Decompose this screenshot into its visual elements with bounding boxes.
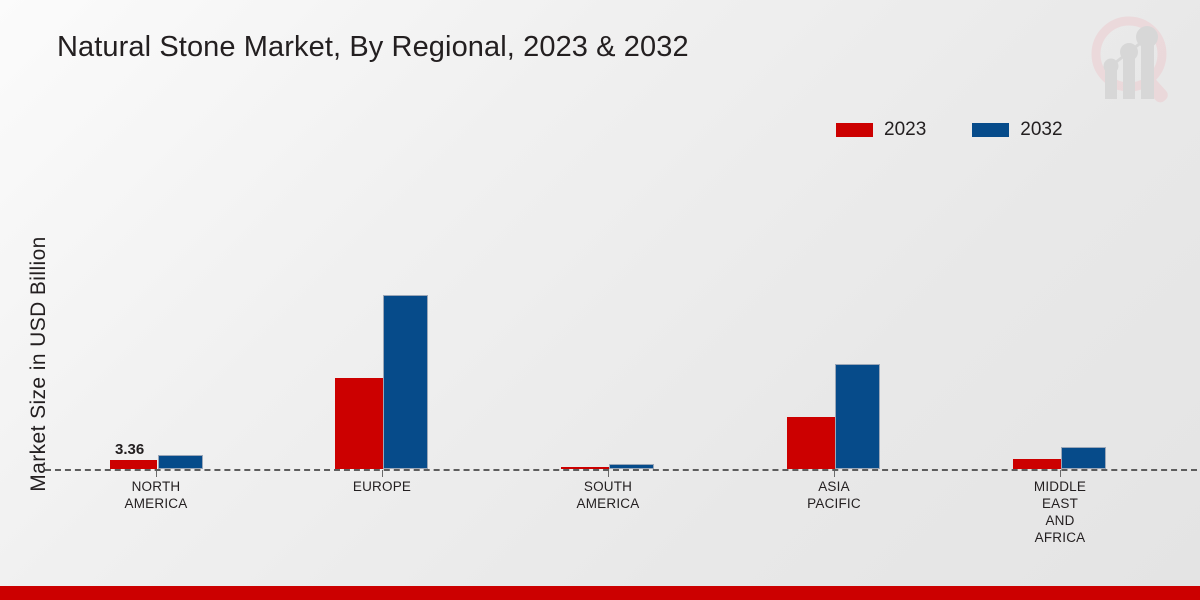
chart-page: Natural Stone Market, By Regional, 2023 …	[0, 0, 1200, 600]
x-axis-label-middle-east-and-africa: MIDDLE EAST AND AFRICA	[1000, 478, 1120, 546]
legend-label-2032: 2032	[1020, 120, 1062, 139]
chart-legend: 2023 2032	[836, 120, 1063, 139]
bar-2023-europe[interactable]	[335, 378, 383, 469]
bar-2023-north-america[interactable]	[110, 460, 157, 469]
x-axis-tick-asia-pacific	[834, 470, 835, 477]
bar-2032-asia-pacific[interactable]	[835, 364, 880, 469]
y-axis-title: Market Size in USD Billion	[27, 129, 51, 599]
x-axis-label-europe: EUROPE	[322, 478, 442, 495]
x-axis-tick-north-america	[156, 470, 157, 477]
legend-item-2023[interactable]: 2023	[836, 120, 926, 139]
x-axis-tick-middle-east-and-africa	[1060, 470, 1061, 477]
x-axis-tick-south-america	[608, 470, 609, 477]
bottom-accent-strip	[0, 586, 1200, 600]
x-axis-baseline	[45, 469, 1197, 471]
bar-2032-europe[interactable]	[383, 295, 428, 469]
bar-2032-north-america[interactable]	[158, 455, 203, 469]
x-axis-label-asia-pacific: ASIA PACIFIC	[774, 478, 894, 512]
legend-swatch-2023	[836, 123, 873, 137]
x-axis-tick-europe	[382, 470, 383, 477]
chart-title: Natural Stone Market, By Regional, 2023 …	[57, 31, 689, 64]
bar-2023-middle-east-and-africa[interactable]	[1013, 459, 1061, 469]
legend-label-2023: 2023	[884, 120, 926, 139]
bar-2032-middle-east-and-africa[interactable]	[1061, 447, 1106, 469]
x-axis-label-north-america: NORTH AMERICA	[96, 478, 216, 512]
bar-2023-asia-pacific[interactable]	[787, 417, 835, 469]
legend-item-2032[interactable]: 2032	[972, 120, 1062, 139]
market-research-logo-watermark	[1076, 6, 1186, 112]
legend-swatch-2032	[972, 123, 1009, 137]
value-label-north-america: 3.36	[115, 441, 144, 458]
x-axis-label-south-america: SOUTH AMERICA	[548, 478, 668, 512]
